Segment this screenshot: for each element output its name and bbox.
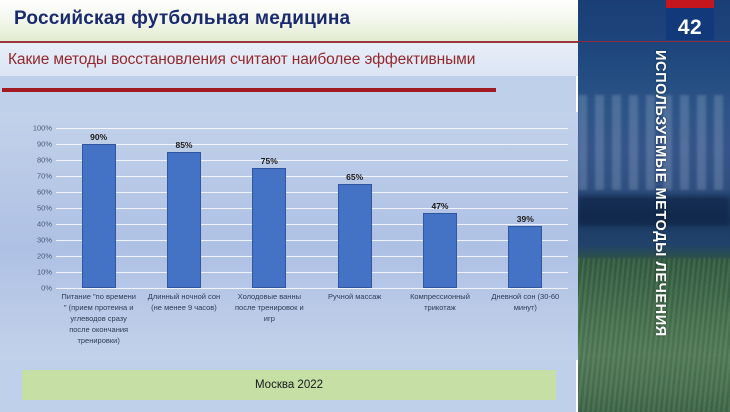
chart-y-tick-label: 90% — [37, 140, 52, 149]
section-vertical-title: ИСПОЛЬЗУЕМЫЕ МЕТОДЫ ЛЕЧЕНИЯ — [645, 50, 675, 405]
slide-subtitle-band: Какие методы восстановления считают наиб… — [0, 43, 578, 76]
chart-y-tick-label: 0% — [41, 284, 52, 293]
page-title: Российская футбольная медицина — [14, 8, 350, 30]
chart-bars-group: 90%85%75%65%47%39% — [56, 128, 568, 288]
chart-y-tick-label: 100% — [33, 124, 52, 133]
chart-bar-value-label: 39% — [517, 214, 534, 224]
chart-category-label: Ручной массаж — [312, 292, 397, 303]
chart-y-tick-label: 10% — [37, 268, 52, 277]
chart-y-tick-label: 30% — [37, 236, 52, 245]
chart-bar-value-label: 75% — [261, 156, 278, 166]
page-subtitle: Какие методы восстановления считают наиб… — [0, 51, 475, 69]
chart-bar[interactable]: 65% — [338, 184, 372, 288]
chart-y-tick-label: 50% — [37, 204, 52, 213]
chart-bar-value-label: 85% — [175, 140, 192, 150]
chart-bar-value-label: 65% — [346, 172, 363, 182]
footer-text: Москва 2022 — [255, 379, 323, 391]
subtitle-accent-underline — [2, 88, 496, 92]
presentation-slide: 42 ИСПОЛЬЗУЕМЫЕ МЕТОДЫ ЛЕЧЕНИЯ Российска… — [0, 0, 730, 412]
badge-red-accent-bar — [666, 0, 714, 8]
slide-footer: Москва 2022 — [22, 370, 556, 400]
chart-y-axis: 100%90%80%70%60%50%40%30%20%10%0% — [14, 128, 52, 288]
chart-bar[interactable]: 75% — [252, 168, 286, 288]
chart-y-tick-label: 40% — [37, 220, 52, 229]
chart-x-axis-categories: Питание "по времени " (прием протеина и … — [56, 292, 568, 358]
chart-bar-slot: 85% — [141, 128, 226, 288]
chart-bar-slot: 39% — [483, 128, 568, 288]
slide-number-text: 42 — [678, 17, 702, 38]
badge-underline-rule — [578, 41, 730, 42]
chart-bar-value-label: 90% — [90, 132, 107, 142]
chart-bar-slot: 47% — [397, 128, 482, 288]
chart-bar[interactable]: 90% — [82, 144, 116, 288]
chart-category-label: Длинный ночной сон (не менее 9 часов) — [141, 292, 226, 314]
chart-gridline — [56, 288, 568, 289]
bar-chart: 100%90%80%70%60%50%40%30%20%10%0% 90%85%… — [0, 112, 578, 360]
chart-bar-slot: 90% — [56, 128, 141, 288]
chart-category-label: Дневной сон (30-60 минут) — [483, 292, 568, 314]
chart-bar-slot: 65% — [312, 128, 397, 288]
chart-bar[interactable]: 39% — [508, 226, 542, 288]
slide-title-band: Российская футбольная медицина — [0, 0, 578, 41]
chart-bar-slot: 75% — [227, 128, 312, 288]
chart-y-tick-label: 60% — [37, 188, 52, 197]
slide-number-badge: 42 — [666, 0, 714, 40]
chart-y-tick-label: 80% — [37, 156, 52, 165]
section-vertical-title-text: ИСПОЛЬЗУЕМЫЕ МЕТОДЫ ЛЕЧЕНИЯ — [652, 50, 668, 337]
chart-bar-value-label: 47% — [431, 201, 448, 211]
chart-y-tick-label: 20% — [37, 252, 52, 261]
chart-category-label: Холодовые ванны после тренировок и игр — [227, 292, 312, 325]
chart-bar[interactable]: 47% — [423, 213, 457, 288]
chart-y-tick-label: 70% — [37, 172, 52, 181]
chart-category-label: Питание "по времени " (прием протеина и … — [56, 292, 141, 346]
chart-category-label: Компрессионный трикотаж — [397, 292, 482, 314]
chart-bar[interactable]: 85% — [167, 152, 201, 288]
slide-main-body: Российская футбольная медицина Какие мет… — [0, 0, 578, 412]
